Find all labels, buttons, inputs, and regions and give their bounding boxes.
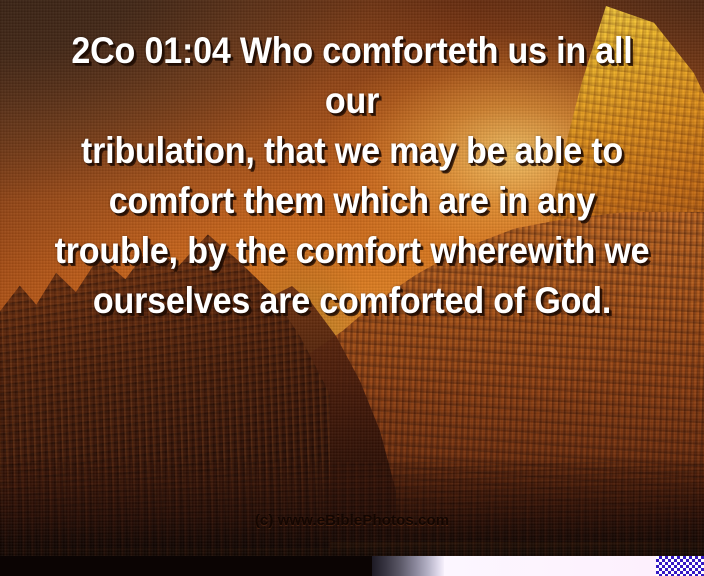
bottom-artifact-strip	[0, 556, 704, 576]
artifact-segment-gray-ramp	[372, 556, 444, 576]
artifact-segment-black	[0, 556, 372, 576]
artifact-segment-checker	[656, 556, 704, 576]
dark-foreground-texture	[0, 462, 704, 558]
scripture-photo-image: 2Co 01:04 Who comforteth us in all our t…	[0, 0, 704, 576]
artifact-segment-white	[444, 556, 656, 576]
